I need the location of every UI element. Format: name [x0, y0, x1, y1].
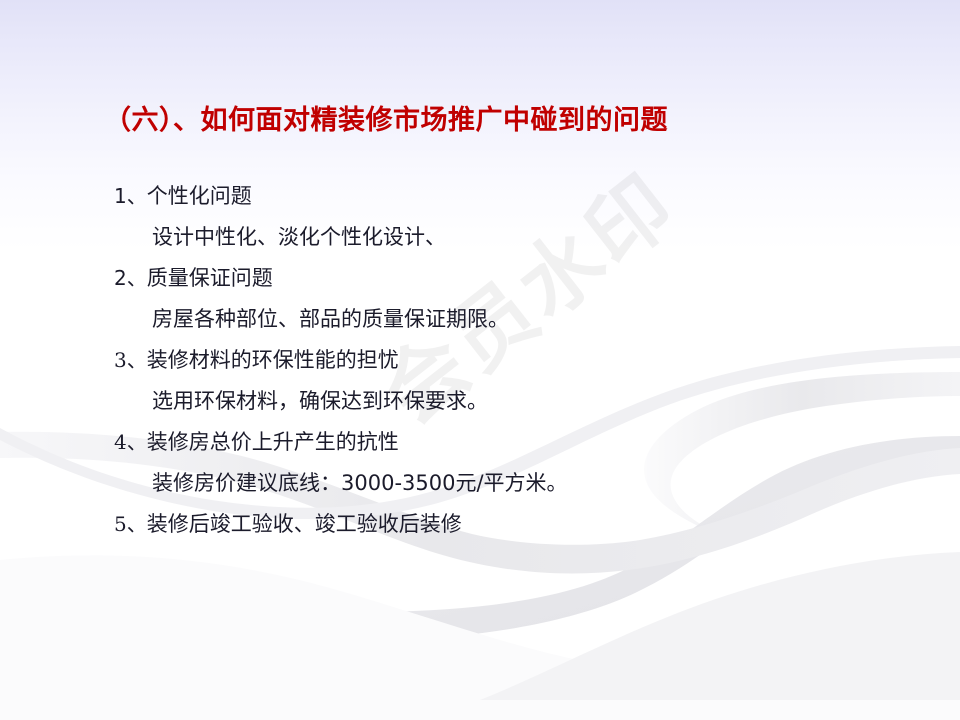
list-item: 2、质量保证问题 [0, 258, 960, 299]
list-item-number: 5、 [114, 504, 147, 545]
list-item: 选用环保材料，确保达到环保要求。 [0, 381, 960, 422]
list-item-text: 房屋各种部位、部品的质量保证期限。 [152, 299, 509, 340]
list-item-number: 1、 [114, 176, 147, 217]
list-item: 1、个性化问题 [0, 176, 960, 217]
list-item: 5、装修后竣工验收、竣工验收后装修 [0, 504, 960, 545]
list-item-text: 设计中性化、淡化个性化设计、 [152, 217, 446, 258]
list-item-text: 个性化问题 [147, 176, 252, 217]
list-item-number: 3、 [114, 340, 147, 381]
list-item-text: 装修房总价上升产生的抗性 [147, 422, 399, 463]
list-item: 设计中性化、淡化个性化设计、 [0, 217, 960, 258]
list-item-text: 装修后竣工验收、竣工验收后装修 [147, 504, 462, 545]
list-item-number: 2、 [114, 258, 147, 299]
list-item: 3、装修材料的环保性能的担忧 [0, 340, 960, 381]
list-item-text: 装修材料的环保性能的担忧 [147, 340, 399, 381]
slide-canvas: 会员水印 （六）、如何面对精装修市场推广中碰到的问题 1、个性化问题设计中性化、… [0, 0, 960, 720]
list-item-text: 质量保证问题 [147, 258, 273, 299]
list-item-text: 选用环保材料，确保达到环保要求。 [152, 381, 488, 422]
list-item-number: 4、 [114, 422, 147, 463]
list-item: 4、装修房总价上升产生的抗性 [0, 422, 960, 463]
list-item: 装修房价建议底线：3000-3500元/平方米。 [0, 463, 960, 504]
list-item-text: 装修房价建议底线：3000-3500元/平方米。 [152, 463, 568, 504]
list-item: 房屋各种部位、部品的质量保证期限。 [0, 299, 960, 340]
page-title: （六）、如何面对精装修市场推广中碰到的问题 [104, 104, 668, 138]
content-list: 1、个性化问题设计中性化、淡化个性化设计、2、质量保证问题房屋各种部位、部品的质… [0, 176, 960, 545]
